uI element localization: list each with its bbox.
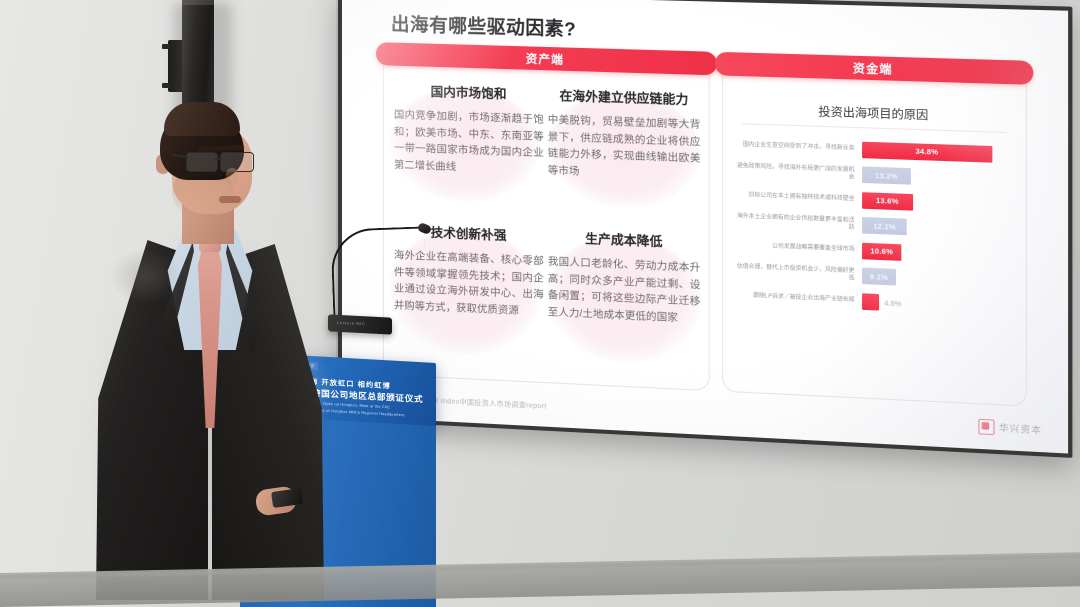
- logo-mark-icon: [978, 419, 994, 435]
- company-logo: 华兴资本: [978, 419, 1042, 438]
- quadrant-domestic-saturation: 国内市场饱和 国内竞争加剧，市场逐渐趋于饱和；欧美市场、中东、东南亚等一带一路国…: [394, 80, 544, 180]
- asset-side-card: 资产端 国内市场饱和 国内竞争加剧，市场逐渐趋于饱和；欧美市场、中东、东南亚等一…: [383, 52, 710, 391]
- chart-category-label: 估值合理，替代上市投资机会少，风险偏好更低: [737, 263, 862, 283]
- chart-category-label: 海外本土企业拥有的企业供给数量更丰富和活跃: [737, 213, 862, 232]
- speaker-top-cap: [182, 0, 214, 5]
- presentation-slide: 出海有哪些驱动因素? 资产端 国内市场饱和 国内竞争加剧，市场逐渐趋于饱和；欧美…: [342, 0, 1068, 454]
- microphone-base-label: Lectern MIC: [337, 320, 365, 326]
- lens-left: [186, 152, 218, 172]
- chart-bar-track: 10.6%: [862, 242, 1012, 265]
- chart-bar-track: 13.2%: [862, 166, 1012, 188]
- hair-top: [164, 102, 240, 136]
- chart-title-rule: [742, 123, 1006, 133]
- chart-category-label: 目标公司在本土拥有独特技术或科技壁垒: [737, 192, 862, 204]
- quadrant-body: 国内竞争加剧，市场逐渐趋于饱和；欧美市场、中东、东南亚等一带一路国家市场成为国内…: [394, 108, 544, 180]
- chart-bar: 12.1%: [862, 217, 907, 235]
- chart-bar-track: 13.6%: [862, 192, 1012, 214]
- quadrant-overseas-supplychain: 在海外建立供应链能力 中美脱钩，贸易壁垒加剧等大背景下，供应链成熟的企业将供应链…: [548, 84, 701, 185]
- nose: [226, 168, 238, 190]
- asset-card-banner: 资产端: [376, 42, 717, 75]
- chart-bar-value: 13.2%: [875, 170, 898, 180]
- quadrant-heading: 生产成本降低: [548, 226, 701, 251]
- chart-bar-track: 4.5%: [862, 293, 1012, 316]
- shoulder-highlight: [110, 248, 182, 304]
- eyeglasses: [186, 152, 256, 172]
- chart-category-label: 跟随LP诉求／被投企业出海产业链布局: [737, 292, 862, 305]
- chart-bar-value: 13.6%: [876, 196, 899, 206]
- chart-bar: 10.6%: [862, 242, 901, 260]
- lens-right: [220, 152, 254, 172]
- chart-bar-value: 34.8%: [915, 147, 938, 157]
- quadrant-heading: 国内市场饱和: [394, 80, 544, 104]
- chart-bar: [862, 293, 879, 310]
- fund-side-card: 资金端 投资出海项目的原因 国内企业生意空间受到了冲击，寻找新业务34.8%避免…: [722, 62, 1027, 406]
- projection-screen: 出海有哪些驱动因素? 资产端 国内市场饱和 国内竞争加剧，市场逐渐趋于饱和；欧美…: [338, 0, 1072, 458]
- chart-bar: 34.8%: [862, 141, 992, 162]
- logo-text: 华兴资本: [999, 421, 1042, 437]
- microphone-base: Lectern MIC: [328, 314, 392, 334]
- chart-category-label: 避免政策风险，寻找海外布局更广阔的发展机会: [737, 163, 862, 182]
- chart-title: 投资出海项目的原因: [723, 100, 1026, 126]
- quadrant-heading: 在海外建立供应链能力: [548, 84, 701, 108]
- chart-bar-value: 4.5%: [884, 298, 901, 308]
- quadrant-body: 我国人口老龄化、劳动力成本升高；同时众多产业产能过剩、设备闲置；可将这些边际产业…: [548, 255, 701, 329]
- slide-title: 出海有哪些驱动因素?: [391, 10, 576, 41]
- chart-bar-value: 12.1%: [873, 221, 896, 231]
- chart-category-label: 公司发展战略需要覆盖全球市场: [737, 242, 862, 254]
- chart-bar: 13.2%: [862, 166, 911, 184]
- chart-bar-value: 10.6%: [870, 246, 893, 256]
- glasses-bridge: [215, 158, 222, 160]
- chart-bar: 13.6%: [862, 192, 913, 210]
- presenter: [86, 108, 336, 607]
- conference-room-photo: 出海有哪些驱动因素? 资产端 国内市场饱和 国内竞争加剧，市场逐渐趋于饱和；欧美…: [0, 0, 1080, 607]
- quadrant-body: 中美脱钩，贸易壁垒加剧等大背景下，供应链成熟的企业将供应链能力外移，实现曲线输出…: [548, 113, 701, 186]
- investment-reason-bar-chart: 国内企业生意空间受到了冲击，寻找新业务34.8%避免政策风险，寻找海外布局更广阔…: [737, 133, 1012, 369]
- chart-bar: 9.1%: [862, 268, 896, 286]
- quadrant-production-cost: 生产成本降低 我国人口老龄化、劳动力成本升高；同时众多产业产能过剩、设备闲置；可…: [548, 226, 701, 329]
- fund-card-banner: 资金端: [715, 52, 1033, 85]
- mouth: [219, 196, 241, 203]
- chart-bar-track: 12.1%: [862, 217, 1012, 239]
- fund-banner-label: 资金端: [853, 59, 893, 77]
- chart-bar-value: 9.1%: [870, 271, 888, 281]
- chart-bar-track: 34.8%: [862, 141, 1012, 163]
- microphone-gooseneck: [330, 226, 427, 325]
- chart-bar-track: 9.1%: [862, 268, 1012, 291]
- asset-banner-label: 资产端: [526, 50, 564, 67]
- screen-surface: 出海有哪些驱动因素? 资产端 国内市场饱和 国内竞争加剧，市场逐渐趋于饱和；欧美…: [342, 0, 1068, 454]
- chart-category-label: 国内企业生意空间受到了冲击，寻找新业务: [737, 142, 862, 153]
